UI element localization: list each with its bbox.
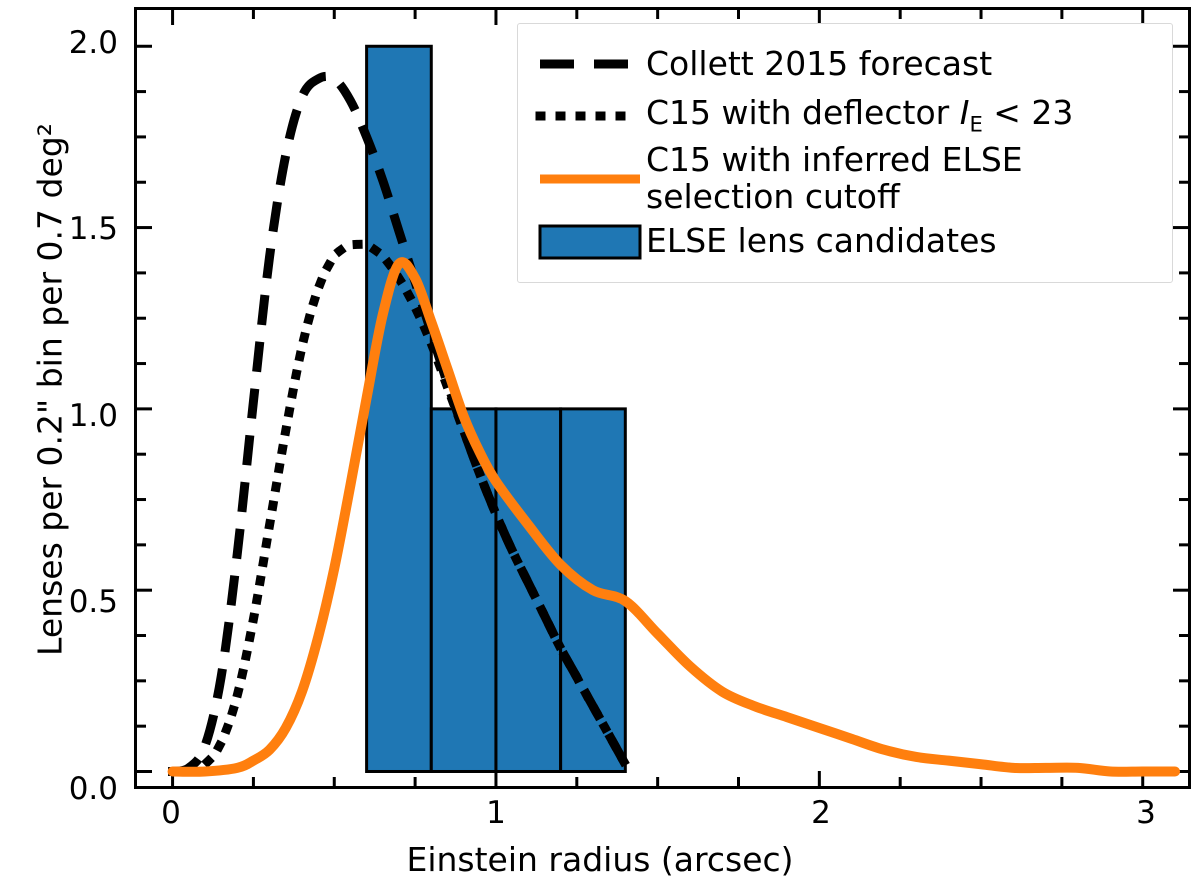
series-curve [173, 262, 1175, 772]
blue-patch-icon [534, 220, 646, 264]
x-axis-label: Einstein radius (arcsec) [0, 840, 1200, 879]
legend-label-collett-forecast: Collett 2015 forecast [646, 46, 992, 83]
legend-item-collett-forecast: Collett 2015 forecast [534, 38, 1156, 90]
legend-label-subscript-E: E [969, 112, 982, 137]
legend-item-else-lens-candidates: ELSE lens candidates [534, 216, 1156, 268]
x-tick-label-0: 0 [161, 795, 181, 831]
x-tick-label-2: 2 [811, 795, 831, 831]
x-tick-label-1: 1 [486, 795, 506, 831]
figure-root: Lenses per 0.2" bin per 0.7 deg² 0.0 0.5… [0, 0, 1200, 889]
legend-box: Collett 2015 forecast C15 with deflector… [517, 23, 1173, 283]
y-tick-label-3: 1.5 [0, 211, 118, 247]
legend-label-else-lens-candidates: ELSE lens candidates [646, 223, 997, 260]
legend-item-c15-deflector: C15 with deflector IE < 23 [534, 90, 1156, 142]
x-tick-label-3: 3 [1136, 795, 1156, 831]
y-tick-label-0: 0.0 [0, 771, 118, 807]
solid-orange-line-icon [534, 157, 646, 201]
legend-label-c15-inferred-cutoff: C15 with inferred ELSE selection cutoff [646, 142, 1023, 216]
legend-label-italic-I: I [960, 93, 970, 132]
histogram-bar [367, 46, 432, 771]
y-tick-label-2: 1.0 [0, 398, 118, 434]
y-tick-label-1: 0.5 [0, 584, 118, 620]
legend-label-prefix: C15 with deflector [646, 93, 960, 132]
legend-label-c15-deflector: C15 with deflector IE < 23 [646, 95, 1073, 136]
y-axis-label: Lenses per 0.2" bin per 0.7 deg² [31, 0, 70, 785]
legend-label-suffix: < 23 [983, 93, 1074, 132]
dotted-black-line-icon [534, 94, 646, 138]
y-tick-label-4: 2.0 [0, 25, 118, 61]
dashed-black-line-icon [534, 42, 646, 86]
legend-item-c15-inferred-cutoff: C15 with inferred ELSE selection cutoff [534, 142, 1156, 216]
